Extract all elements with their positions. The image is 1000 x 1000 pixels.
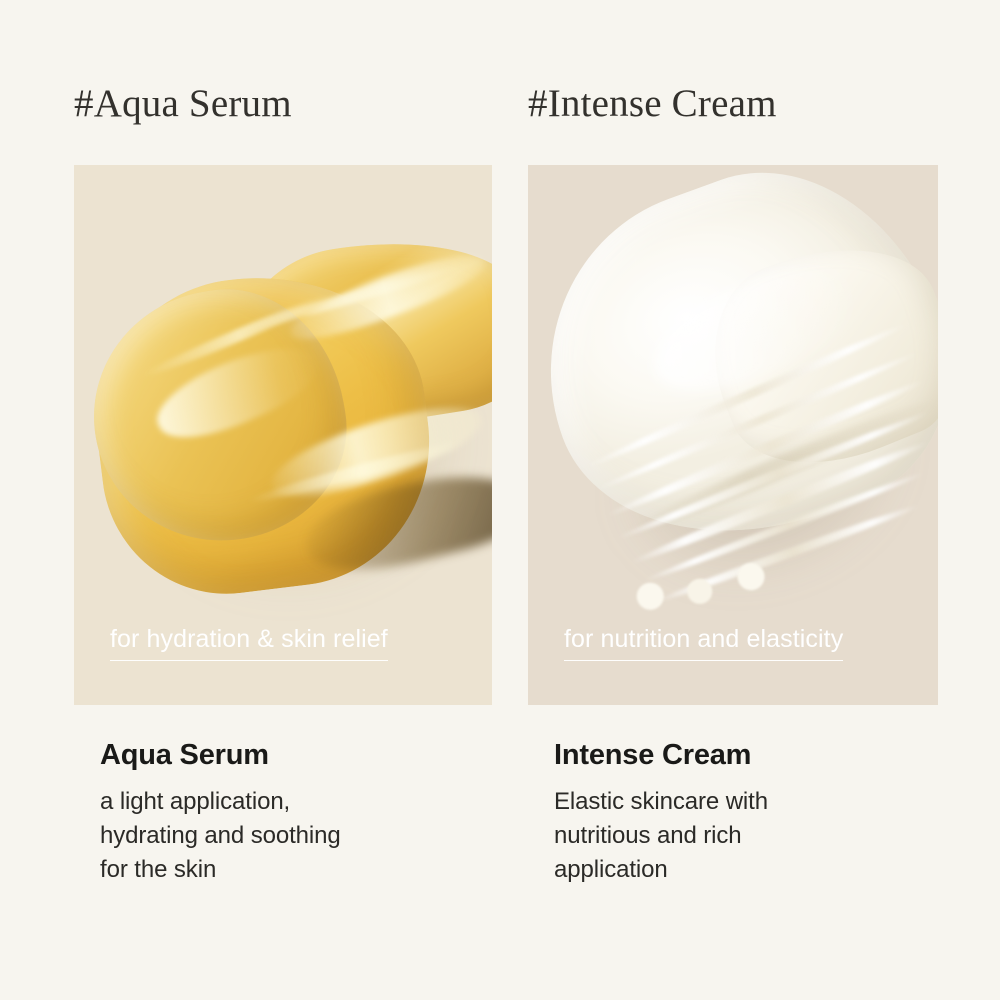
product-comparison-page: #Aqua Serum for hydration & skin relief … xyxy=(0,0,1000,1000)
product-description: a light application, hydrating and sooth… xyxy=(100,785,520,887)
product-title: Aqua Serum xyxy=(100,738,520,773)
product-image-panel-aqua-serum[interactable]: for hydration & skin relief xyxy=(74,165,492,705)
panel-caption-text: for hydration & skin relief xyxy=(110,624,388,661)
panel-caption-aqua-serum: for hydration & skin relief xyxy=(110,624,388,661)
hashtag-heading-aqua-serum: #Aqua Serum xyxy=(74,82,292,127)
panel-caption-intense-cream: for nutrition and elasticity xyxy=(564,624,843,661)
hashtag-heading-intense-cream: #Intense Cream xyxy=(528,82,777,127)
product-info-intense-cream: Intense Cream Elastic skincare with nutr… xyxy=(554,738,974,887)
product-column-aqua-serum: #Aqua Serum for hydration & skin relief … xyxy=(74,0,538,1000)
product-title: Intense Cream xyxy=(554,738,974,773)
product-info-aqua-serum: Aqua Serum a light application, hydratin… xyxy=(100,738,520,887)
product-image-panel-intense-cream[interactable]: for nutrition and elasticity xyxy=(528,165,938,705)
product-column-intense-cream: #Intense Cream for nutrition and elastic… xyxy=(528,0,992,1000)
panel-caption-text: for nutrition and elasticity xyxy=(564,624,843,661)
product-description: Elastic skincare with nutritious and ric… xyxy=(554,785,974,887)
